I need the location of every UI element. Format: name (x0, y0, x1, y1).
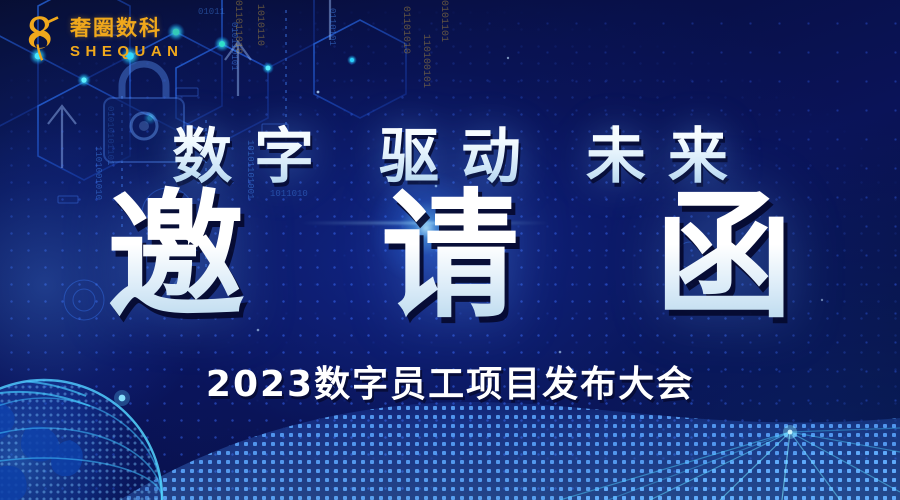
brand-name-cn: 奢圈数科 (70, 18, 184, 39)
invitation-poster: 01010101101 1101001010 010110101 1010110… (0, 0, 900, 500)
page-title: 邀 请 函 (0, 182, 900, 331)
brand-name-en: SHEQUAN (70, 44, 184, 59)
svg-text:110100101: 110100101 (420, 34, 431, 88)
brand-logo[interactable]: 奢圈数科 SHEQUAN (16, 14, 184, 62)
svg-text:010110101: 010110101 (229, 22, 239, 71)
svg-text:01011: 01011 (198, 7, 225, 17)
shequan-emblem-icon (16, 14, 62, 62)
brand-wordmark: 奢圈数科 SHEQUAN (70, 18, 184, 59)
event-subtitle: 2023数字员工项目发布大会 (0, 355, 900, 407)
svg-text:011011010: 011011010 (232, 0, 243, 54)
svg-text:01101010: 01101010 (400, 6, 411, 54)
svg-text:0110101: 0110101 (327, 8, 337, 46)
svg-text:1010110: 1010110 (254, 4, 265, 46)
svg-text:0101101: 0101101 (438, 0, 449, 42)
